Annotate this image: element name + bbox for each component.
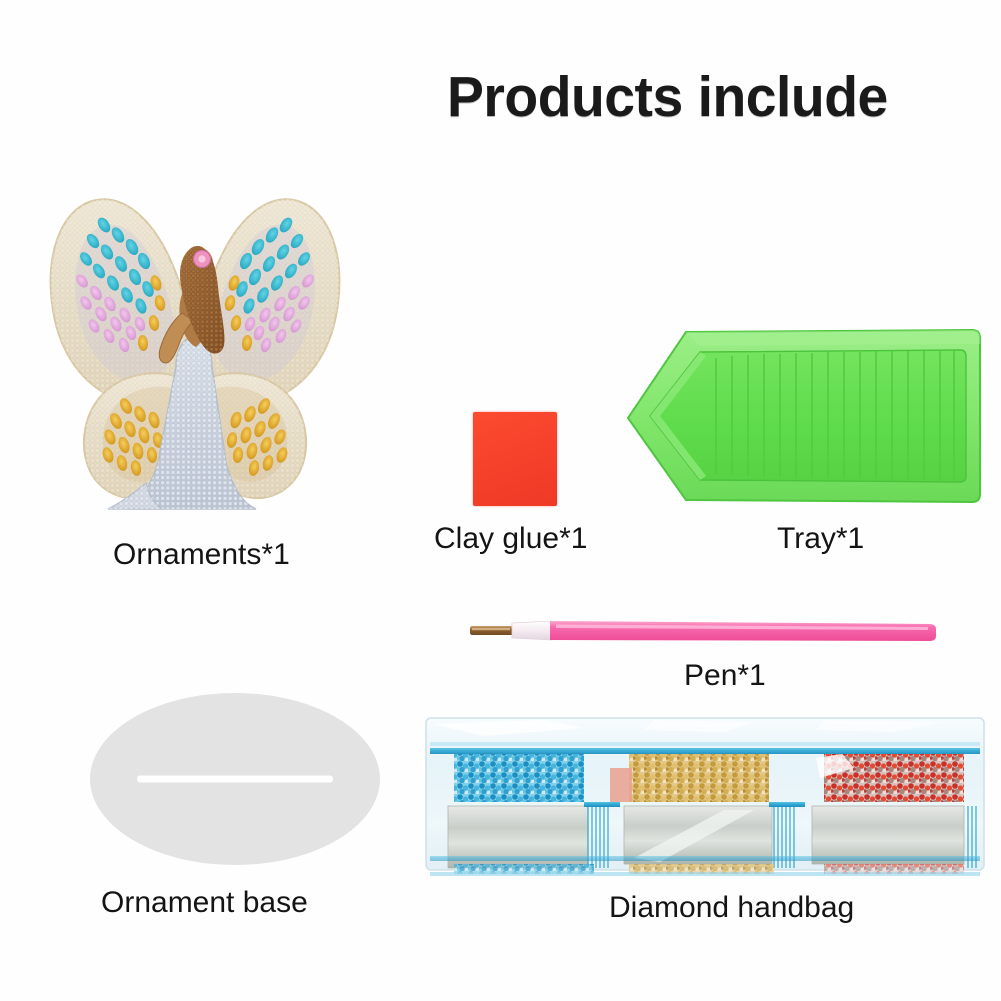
- clay-glue-label: Clay glue*1: [434, 522, 587, 556]
- base-slot: [137, 776, 333, 783]
- ornament-base-label: Ornament base: [101, 886, 308, 920]
- ornaments-label: Ornaments*1: [113, 538, 290, 572]
- diamond-handbag-image: [424, 706, 986, 882]
- product-include-poster: Products include: [0, 0, 1001, 1001]
- diamond-handbag-label: Diamond handbag: [609, 891, 854, 925]
- pen-image: [466, 612, 946, 654]
- ornament-base-image: [90, 693, 380, 865]
- page-title: Products include: [447, 63, 976, 131]
- clay-glue-image: [473, 412, 557, 506]
- tray-image: [620, 318, 986, 514]
- tray-label: Tray*1: [777, 522, 864, 556]
- pen-label: Pen*1: [684, 659, 766, 693]
- ornaments-image: [30, 163, 360, 518]
